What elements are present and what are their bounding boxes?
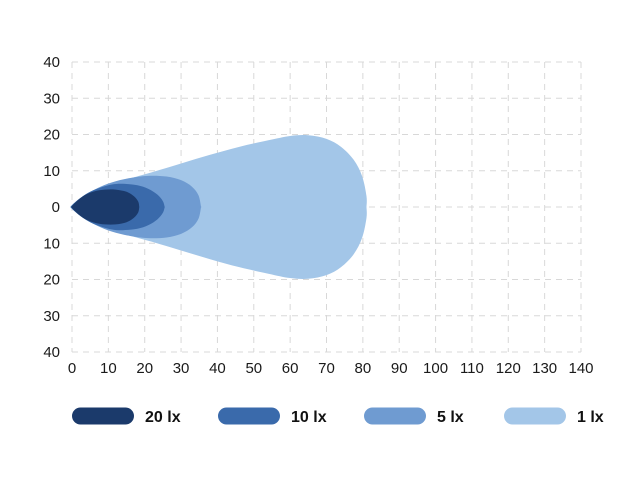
x-tick-label: 60 xyxy=(282,360,299,377)
light-distribution-chart: 0102030405060708090100110120130140 40302… xyxy=(0,0,640,480)
legend-swatch xyxy=(504,408,566,425)
x-tick-label: 70 xyxy=(318,360,335,377)
legend-swatch xyxy=(218,408,280,425)
x-tick-label: 10 xyxy=(100,360,117,377)
legend-label: 1 lx xyxy=(577,409,604,426)
x-tick-label: 30 xyxy=(173,360,190,377)
legend-label: 20 lx xyxy=(145,409,181,426)
y-axis-tick-labels: 40302010010203040 xyxy=(43,54,60,361)
x-tick-label: 90 xyxy=(391,360,408,377)
beam-diagram-svg: 0102030405060708090100110120130140 40302… xyxy=(0,0,640,480)
x-tick-label: 40 xyxy=(209,360,226,377)
legend-label: 5 lx xyxy=(437,409,464,426)
x-tick-label: 140 xyxy=(568,360,593,377)
isolux-beam-regions xyxy=(70,135,367,279)
y-tick-label: 10 xyxy=(43,163,60,180)
x-tick-label: 80 xyxy=(355,360,372,377)
y-tick-label: 40 xyxy=(43,344,60,361)
beam-region-20-lx xyxy=(71,189,139,224)
x-tick-label: 130 xyxy=(532,360,557,377)
chart-legend: 20 lx10 lx5 lx1 lx xyxy=(72,408,604,427)
x-tick-label: 110 xyxy=(460,360,484,377)
legend-item[interactable]: 10 lx xyxy=(218,408,327,427)
x-tick-label: 20 xyxy=(136,360,153,377)
x-tick-label: 100 xyxy=(423,360,448,377)
legend-item[interactable]: 20 lx xyxy=(72,408,181,427)
x-tick-label: 50 xyxy=(245,360,262,377)
y-tick-label: 20 xyxy=(43,272,60,289)
y-tick-label: 40 xyxy=(43,54,60,71)
legend-label: 10 lx xyxy=(291,409,327,426)
y-tick-label: 10 xyxy=(43,235,60,252)
x-tick-label: 0 xyxy=(68,360,76,377)
x-axis-tick-labels: 0102030405060708090100110120130140 xyxy=(68,360,594,377)
y-tick-label: 20 xyxy=(43,127,60,144)
legend-item[interactable]: 5 lx xyxy=(364,408,464,427)
y-tick-label: 30 xyxy=(43,308,60,325)
legend-swatch xyxy=(72,408,134,425)
y-tick-label: 0 xyxy=(52,199,60,216)
legend-swatch xyxy=(364,408,426,425)
legend-item[interactable]: 1 lx xyxy=(504,408,604,427)
x-tick-label: 120 xyxy=(496,360,521,377)
y-tick-label: 30 xyxy=(43,90,60,107)
